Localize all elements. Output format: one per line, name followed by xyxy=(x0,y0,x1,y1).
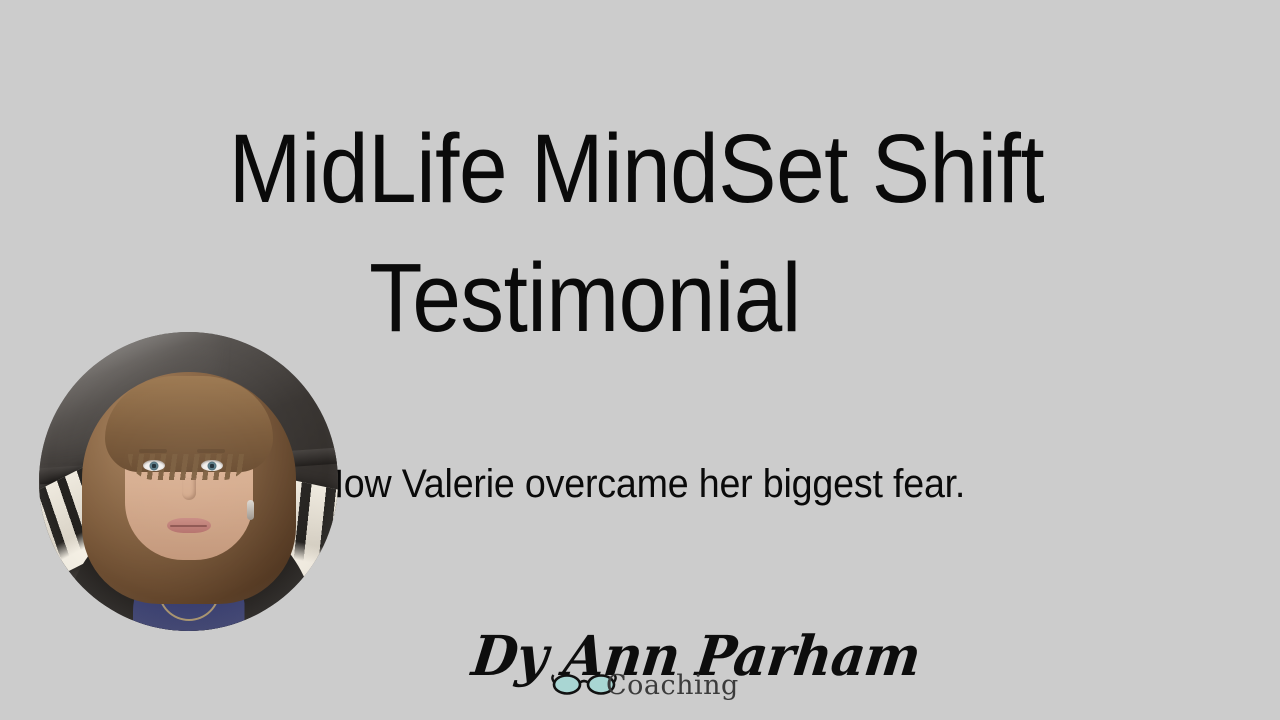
subject-eyebrow-left xyxy=(139,449,167,453)
subject-earring xyxy=(247,500,254,520)
brand-tagline: Coaching xyxy=(606,671,782,701)
subject-nose xyxy=(182,478,196,500)
subject-hair-front xyxy=(105,376,273,472)
subject-eye-left xyxy=(143,460,165,471)
portrait-scene xyxy=(39,332,338,631)
subject-eye-right xyxy=(201,460,223,471)
title-line-1: MidLife MindSet Shift xyxy=(57,104,1215,233)
page-title: MidLife MindSet Shift Testimonial xyxy=(0,104,1280,362)
subject-eyebrow-right xyxy=(197,449,225,453)
brand-logo: Dy Ann Parham Coaching xyxy=(466,627,782,713)
portrait-photo xyxy=(39,332,338,631)
title-slide: MidLife MindSet Shift Testimonial How Va… xyxy=(0,0,1280,720)
subject-mouth xyxy=(167,518,211,533)
